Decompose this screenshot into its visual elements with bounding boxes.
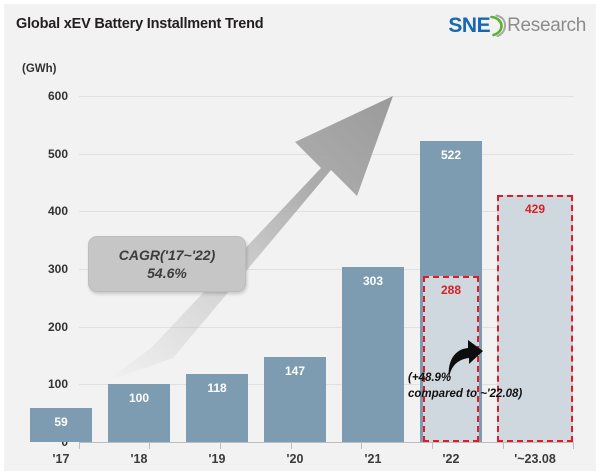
sne-research-logo: SNE Research — [448, 12, 586, 38]
comparison-annotation: (+48.9% compared to ~'22.08) — [408, 371, 593, 402]
gridline-500 — [79, 154, 574, 155]
bar-value-2019: 118 — [186, 381, 248, 395]
cagr-line-2: 54.6% — [147, 264, 187, 282]
highlight-box-2022-08[interactable] — [423, 276, 479, 442]
bar-value-2021: 303 — [342, 274, 404, 288]
x-tick-label-2021: '21 — [342, 452, 404, 466]
cagr-callout: CAGR('17~'22) 54.6% — [88, 236, 246, 292]
x-tick-7 — [573, 442, 574, 449]
highlight-box-2023-08[interactable] — [497, 195, 573, 442]
highlight-value-2023-08: 429 — [497, 202, 573, 216]
chart-header: Global xEV Battery Installment Trend SNE… — [4, 4, 596, 48]
comparison-line-2: compared to ~'22.08) — [408, 387, 593, 403]
bar-value-2017: 59 — [30, 415, 92, 429]
comparison-line-1: (+48.9% — [408, 371, 593, 387]
y-tick-label-500: 500 — [24, 147, 68, 161]
x-tick-label-2017: '17 — [30, 452, 92, 466]
logo-brand-text: SNE — [448, 15, 490, 36]
bar-value-2020: 147 — [264, 364, 326, 378]
chart-screenshot: Global xEV Battery Installment Trend SNE… — [0, 0, 600, 475]
x-tick-label-2020: '20 — [264, 452, 326, 466]
cagr-line-1: CAGR('17~'22) — [119, 246, 216, 264]
x-tick-6 — [503, 442, 504, 449]
gridline-600 — [79, 96, 574, 97]
x-tick-label-2023-08: '~23.08 — [493, 452, 577, 466]
bar-2021[interactable] — [342, 267, 404, 442]
x-tick-label-2018: '18 — [108, 452, 170, 466]
bar-value-2022: 522 — [420, 148, 482, 162]
x-tick-label-2019: '19 — [186, 452, 248, 466]
x-tick-5 — [432, 442, 433, 449]
y-tick-label-300: 300 — [24, 262, 68, 276]
bar-value-2018: 100 — [108, 391, 170, 405]
y-axis-unit-label: (GWh) — [22, 63, 56, 75]
x-tick-3 — [291, 442, 292, 449]
logo-suffix-text: Research — [507, 16, 586, 35]
highlight-value-2022-08: 288 — [423, 283, 479, 297]
logo-swoosh-icon — [489, 14, 506, 37]
x-tick-2 — [220, 442, 221, 449]
y-tick-label-400: 400 — [24, 204, 68, 218]
x-tick-label-2022: '22 — [420, 452, 482, 466]
y-tick-label-600: 600 — [24, 89, 68, 103]
x-tick-4 — [361, 442, 362, 449]
page-title: Global xEV Battery Installment Trend — [16, 16, 263, 32]
x-axis-line — [79, 442, 574, 443]
y-tick-label-100: 100 — [24, 377, 68, 391]
x-tick-0 — [79, 442, 80, 449]
x-tick-1 — [149, 442, 150, 449]
y-tick-label-200: 200 — [24, 320, 68, 334]
